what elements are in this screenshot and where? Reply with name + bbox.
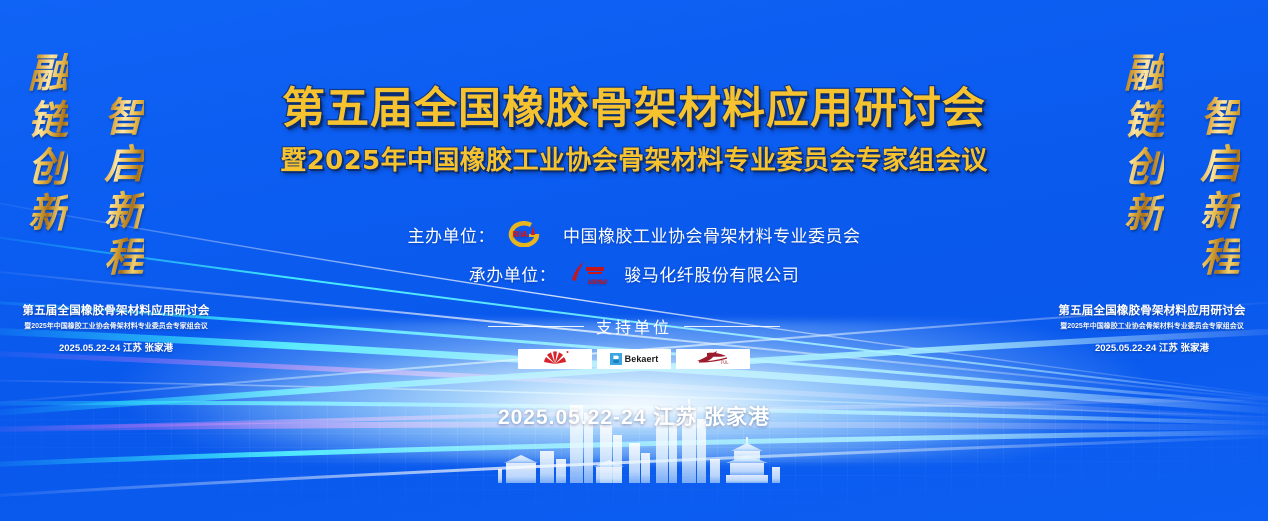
supporters-heading: 支持单位 (232, 314, 1036, 338)
svg-text:FUL: FUL (721, 360, 729, 365)
organizer-row-host: 主办单位： RIA 中国橡胶工业协会骨架材料专业委员会 (408, 221, 861, 247)
organizer-name: 中国橡胶工业协会骨架材料专业委员会 (563, 222, 861, 247)
calligraphy-char: 新 (1200, 190, 1240, 235)
calligraphy-column-a: 融 链 创 新 (28, 52, 68, 237)
sunburst-logo-svg (538, 349, 572, 365)
page-subtitle: 暨2025年中国橡胶工业协会骨架材料专业委员会专家组会议 (232, 140, 1036, 177)
svg-text:uma: uma (588, 276, 607, 286)
rule-right (684, 326, 780, 327)
calligraphy-char: 链 (28, 99, 68, 144)
calligraphy-char: 程 (104, 236, 144, 281)
bird-mark-svg: FUL (693, 349, 733, 365)
right-mini-title-block: 第五届全国橡胶骨架材料应用研讨会 暨2025年中国橡胶工业协会骨架材料专业委员会… (1036, 302, 1268, 354)
calligraphy-char: 链 (1124, 99, 1164, 144)
organizer-list: 主办单位： RIA 中国橡胶工业协会骨架材料专业委员会 承办单位： (232, 221, 1036, 286)
junma-logo-icon: uma (564, 260, 616, 286)
mini-date: 2025.05.22-24 江苏 张家港 (1036, 340, 1268, 354)
mini-subtitle: 暨2025年中国橡胶工业协会骨架材料专业委员会专家组会议 (1036, 321, 1268, 331)
organizer-row-undertaker: 承办单位： uma 骏马化纤股份有限公司 (469, 260, 800, 286)
calligraphy-char: 智 (104, 96, 144, 141)
organizer-name: 骏马化纤股份有限公司 (624, 261, 799, 286)
bekaert-wordmark: Bekaert (625, 354, 659, 364)
page-title: 第五届全国橡胶骨架材料应用研讨会 (232, 86, 1036, 133)
calligraphy-column-b: 智 启 新 程 (104, 96, 144, 281)
calligraphy-column-b: 智 启 新 程 (1200, 96, 1240, 281)
calligraphy-char: 创 (1124, 146, 1164, 191)
calligraphy-column-a: 融 链 创 新 (1124, 52, 1164, 237)
organizer-label: 主办单位： (408, 222, 496, 247)
bekaert-mark-svg (610, 353, 622, 365)
bekaert-logo-icon: Bekaert (610, 353, 659, 365)
calligraphy-char: 启 (1200, 143, 1240, 188)
calligraphy-char: 新 (28, 192, 68, 237)
organizer-label: 承办单位： (469, 261, 557, 286)
calligraphy-char: 融 (1124, 52, 1164, 97)
calligraphy-char: 启 (104, 143, 144, 188)
calligraphy-char: 融 (28, 52, 68, 97)
sunburst-logo-icon (538, 349, 572, 369)
cria-logo-svg: RIA (503, 221, 555, 247)
junma-logo-svg: uma (564, 260, 616, 286)
supporter-logo-card (518, 349, 592, 369)
calligraphy-char: 创 (28, 146, 68, 191)
right-side-panel: 融 链 创 新 智 启 新 程 第五届全国橡胶骨架材料应用研讨会 暨2025年中… (1036, 0, 1268, 521)
supporter-logo-card: FUL (676, 349, 750, 369)
rule-left (488, 326, 584, 327)
supporter-logo-card: Bekaert (597, 349, 671, 369)
svg-text:RIA: RIA (512, 230, 528, 239)
event-date-location: 2025.05.22-24 江苏 张家港 (232, 401, 1036, 431)
mini-date: 2025.05.22-24 江苏 张家港 (0, 340, 232, 354)
mini-title: 第五届全国橡胶骨架材料应用研讨会 (0, 302, 232, 318)
bird-mark-logo-icon: FUL (693, 349, 733, 369)
cria-logo-icon: RIA (503, 221, 555, 247)
conference-banner: 融 链 创 新 智 启 新 程 第五届全国橡胶骨架材料应用研讨会 暨2025年中… (0, 0, 1268, 521)
supporters-label: 支持单位 (596, 314, 672, 338)
left-mini-title-block: 第五届全国橡胶骨架材料应用研讨会 暨2025年中国橡胶工业协会骨架材料专业委员会… (0, 302, 232, 354)
mini-subtitle: 暨2025年中国橡胶工业协会骨架材料专业委员会专家组会议 (0, 321, 232, 331)
calligraphy-char: 新 (1124, 192, 1164, 237)
calligraphy-char: 程 (1200, 236, 1240, 281)
calligraphy-char: 智 (1200, 96, 1240, 141)
center-content: 第五届全国橡胶骨架材料应用研讨会 暨2025年中国橡胶工业协会骨架材料专业委员会… (232, 0, 1036, 521)
supporter-logos: Bekaert FUL (232, 349, 1036, 369)
calligraphy-char: 新 (104, 190, 144, 235)
left-side-panel: 融 链 创 新 智 启 新 程 第五届全国橡胶骨架材料应用研讨会 暨2025年中… (0, 0, 232, 521)
mini-title: 第五届全国橡胶骨架材料应用研讨会 (1036, 302, 1268, 318)
